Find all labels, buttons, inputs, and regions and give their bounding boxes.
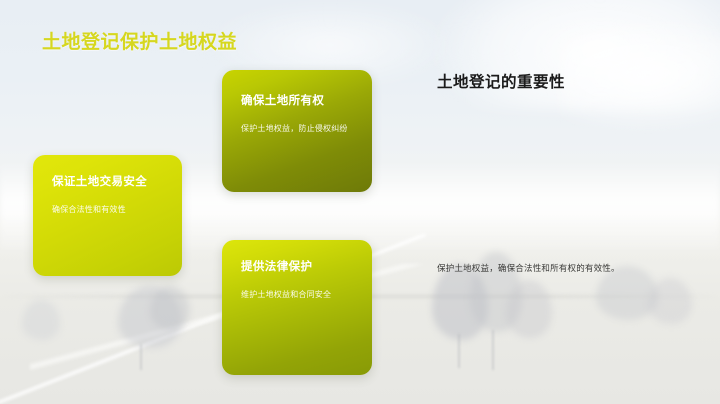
slide-title: 土地登记保护土地权益	[42, 27, 237, 54]
card-legal-protection-title: 提供法律保护	[241, 258, 312, 274]
right-panel-heading: 土地登记的重要性	[437, 70, 565, 92]
background-foliage-blob	[22, 300, 60, 340]
slide-canvas: 土地登记保护土地权益 确保土地所有权 保护土地权益，防止侵权纠纷 保证土地交易安…	[0, 0, 720, 404]
card-legal-protection-body: 维护土地权益和合同安全	[241, 288, 353, 302]
background-tree-trunk	[140, 344, 142, 370]
card-transaction-safety-body: 确保合法性和有效性	[52, 203, 172, 217]
card-ownership-title: 确保土地所有权	[241, 92, 324, 108]
background-cloud-far-right	[560, 20, 720, 130]
right-panel-body: 保护土地权益，确保合法性和所有权的有效性。	[437, 261, 620, 276]
background-foliage-blob	[506, 280, 552, 338]
background-tree-trunk	[492, 330, 494, 370]
card-legal-protection[interactable]: 提供法律保护 维护土地权益和合同安全	[222, 240, 372, 375]
card-ownership-body: 保护土地权益，防止侵权纠纷	[241, 122, 353, 136]
background-foliage-blob	[648, 278, 692, 324]
card-transaction-safety-title: 保证土地交易安全	[52, 173, 147, 189]
card-transaction-safety[interactable]: 保证土地交易安全 确保合法性和有效性	[33, 155, 182, 276]
background-tree-trunk	[458, 334, 460, 368]
card-ownership[interactable]: 确保土地所有权 保护土地权益，防止侵权纠纷	[222, 70, 372, 192]
background-foliage-blob	[150, 286, 190, 330]
